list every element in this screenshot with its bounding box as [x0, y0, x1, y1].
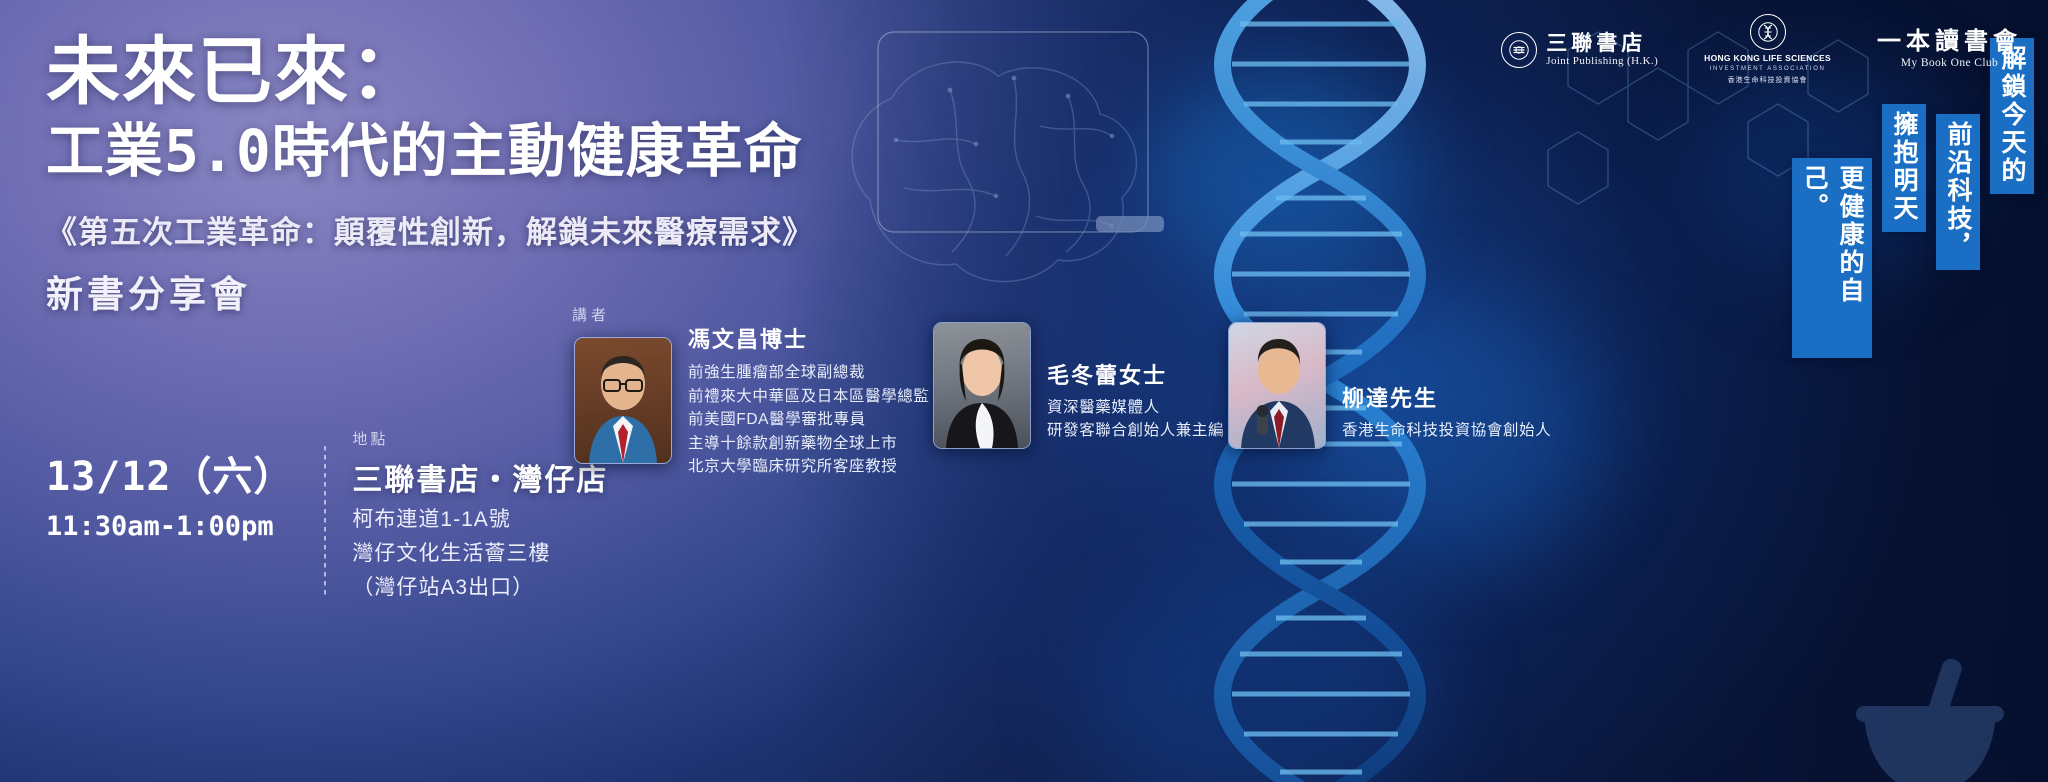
headline-block: 未來已來： 工業5.0時代的主動健康革命 《第五次工業革命：顛覆性創新，解鎖未來… — [46, 34, 814, 318]
my-book-one-name-cn: 一本讀書會 — [1877, 30, 2022, 55]
joint-publishing-seal-icon — [1501, 32, 1537, 68]
speaker-1-bio-line-5: 北京大學臨床研究所客座教授 — [688, 455, 930, 479]
my-book-one-name-en: My Book One Club — [1901, 57, 1998, 69]
speaker-3-portrait — [1228, 322, 1326, 449]
joint-publishing-name-en: Joint Publishing (H.K.) — [1546, 56, 1658, 68]
hkls-name-en: HONG KONG LIFE SCIENCES — [1704, 53, 1831, 63]
joint-publishing-name-cn: 三聯書店 — [1546, 32, 1658, 54]
logo-joint-publishing[interactable]: 三聯書店 Joint Publishing (H.K.) — [1501, 32, 1658, 68]
mortar-pestle-illustration — [1838, 652, 2018, 782]
speaker-1-portrait — [574, 337, 672, 464]
speaker-2-bio-line-2: 研發客聯合創始人兼主編 — [1047, 419, 1224, 443]
speaker-card-1: 馮文昌博士 前強生腫瘤部全球副總裁 前禮來大中華區及日本區醫學總監 前美國FDA… — [574, 322, 930, 479]
tagline-column-2: 前沿科技， — [1936, 114, 1980, 270]
speaker-3-bio-line-1: 香港生命科技投資協會創始人 — [1342, 419, 1551, 443]
hkls-name-cn: 香港生命科技投資協會 — [1728, 75, 1808, 85]
date-time-column: 13/12（六） 11:30am-1:00pm — [46, 428, 294, 542]
hkls-subtitle-en: INVESTMENT ASSOCIATION — [1710, 66, 1826, 72]
book-title: 《第五次工業革命：顛覆性創新，解鎖未來醫療需求》 — [46, 207, 814, 252]
tagline-column-4: 更健康的自己。 — [1792, 158, 1872, 358]
speaker-2-bio: 毛冬蕾女士 資深醫藥媒體人 研發客聯合創始人兼主編 — [1047, 358, 1224, 449]
speaker-1-bio-line-4: 主導十餘款創新藥物全球上市 — [688, 432, 930, 456]
speaker-3-name: 柳達先生 — [1342, 381, 1551, 413]
main-title-line-1: 未來已來： — [46, 34, 814, 111]
logo-my-book-one-club[interactable]: 一本讀書會 My Book One Club — [1877, 30, 2022, 69]
speaker-1-bio-line-3: 前美國FDA醫學審批專員 — [688, 408, 930, 432]
speaker-2-bio-line-1: 資深醫藥媒體人 — [1047, 396, 1224, 420]
speaker-2-portrait — [933, 322, 1031, 449]
speaker-1-bio-line-2: 前禮來大中華區及日本區醫學總監 — [688, 385, 930, 409]
event-promo-banner: 三聯書店 Joint Publishing (H.K.) HONG KONG L… — [0, 0, 2048, 782]
speaker-3-bio: 柳達先生 香港生命科技投資協會創始人 — [1342, 381, 1551, 449]
vertical-dotted-divider — [324, 446, 326, 595]
partner-logo-row: 三聯書店 Joint Publishing (H.K.) HONG KONG L… — [1501, 14, 2022, 85]
event-details-block: 13/12（六） 11:30am-1:00pm 地點 三聯書店・灣仔店 柯布連道… — [46, 428, 608, 601]
event-time: 11:30am-1:00pm — [46, 511, 294, 542]
event-date: 13/12（六） — [46, 454, 294, 501]
speaker-1-bio: 馮文昌博士 前強生腫瘤部全球副總裁 前禮來大中華區及日本區醫學總監 前美國FDA… — [688, 322, 930, 479]
speaker-2-name: 毛冬蕾女士 — [1047, 358, 1224, 390]
speaker-card-2: 毛冬蕾女士 資深醫藥媒體人 研發客聯合創始人兼主編 — [933, 322, 1224, 449]
speaker-1-bio-line-1: 前強生腫瘤部全球副總裁 — [688, 361, 930, 385]
tagline-column-3: 擁抱明天 — [1882, 104, 1926, 232]
main-title-line-2: 工業5.0時代的主動健康革命 — [46, 121, 814, 181]
speaker-1-name: 馮文昌博士 — [688, 322, 930, 354]
hkls-dna-circle-icon — [1750, 14, 1786, 50]
speaker-card-3: 柳達先生 香港生命科技投資協會創始人 — [1228, 322, 1551, 449]
logo-hong-kong-life-sciences[interactable]: HONG KONG LIFE SCIENCES INVESTMENT ASSOC… — [1704, 14, 1831, 85]
